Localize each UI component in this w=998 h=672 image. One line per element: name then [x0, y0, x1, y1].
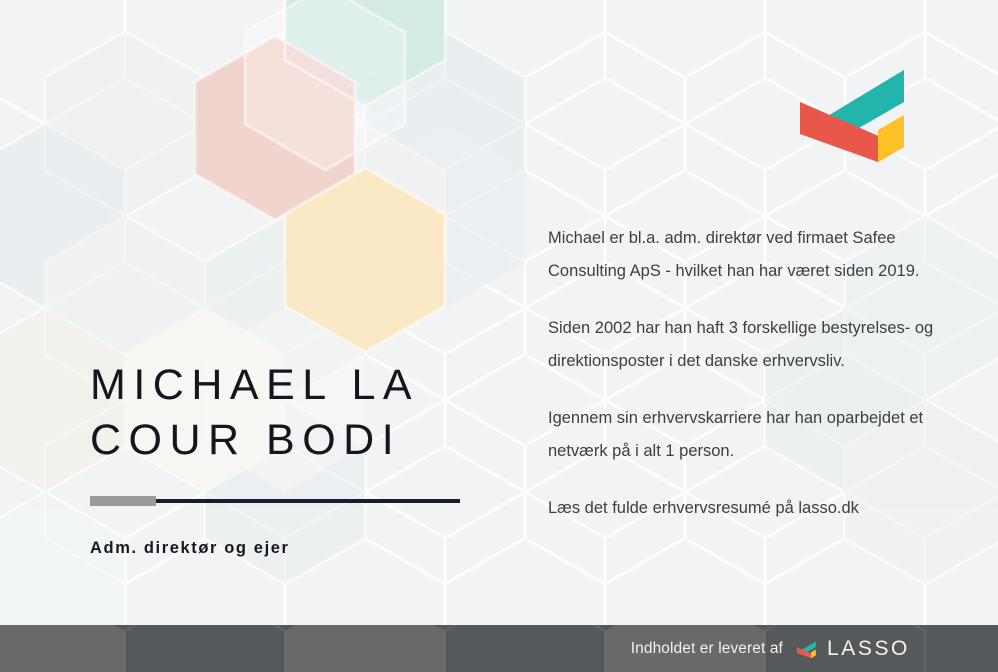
lasso-logo-mark-small [795, 639, 818, 659]
lasso-wordmark: LASSO [827, 637, 910, 661]
page-title: MICHAEL LA COUR BODI [90, 358, 510, 468]
bio-column: Michael er bl.a. adm. direktør ved firma… [548, 222, 948, 525]
footer-bar: Indholdet er leveret af LASSO [0, 625, 998, 672]
bio-paragraph-link[interactable]: Læs det fulde erhvervsresumé på lasso.dk [548, 492, 948, 525]
bio-paragraph: Siden 2002 har han haft 3 forskellige be… [548, 312, 948, 378]
bio-paragraph: Igennem sin erhvervskarriere har han opa… [548, 402, 948, 468]
footer-lasso-logo[interactable]: LASSO [795, 637, 910, 661]
logo-yellow-bar [878, 115, 904, 162]
identity-block: MICHAEL LA COUR BODI Adm. direktør og ej… [90, 358, 510, 558]
profile-card: MICHAEL LA COUR BODI Adm. direktør og ej… [0, 0, 998, 672]
person-role: Adm. direktør og ejer [90, 506, 510, 558]
accent-hexagons [195, 0, 445, 352]
lasso-logo-mark [790, 58, 916, 166]
bio-paragraph: Michael er bl.a. adm. direktør ved firma… [548, 222, 948, 288]
footer-credit-text: Indholdet er leveret af [631, 640, 783, 658]
footer-content: Indholdet er leveret af LASSO [631, 625, 910, 672]
divider [90, 496, 460, 506]
divider-cap [90, 496, 156, 506]
